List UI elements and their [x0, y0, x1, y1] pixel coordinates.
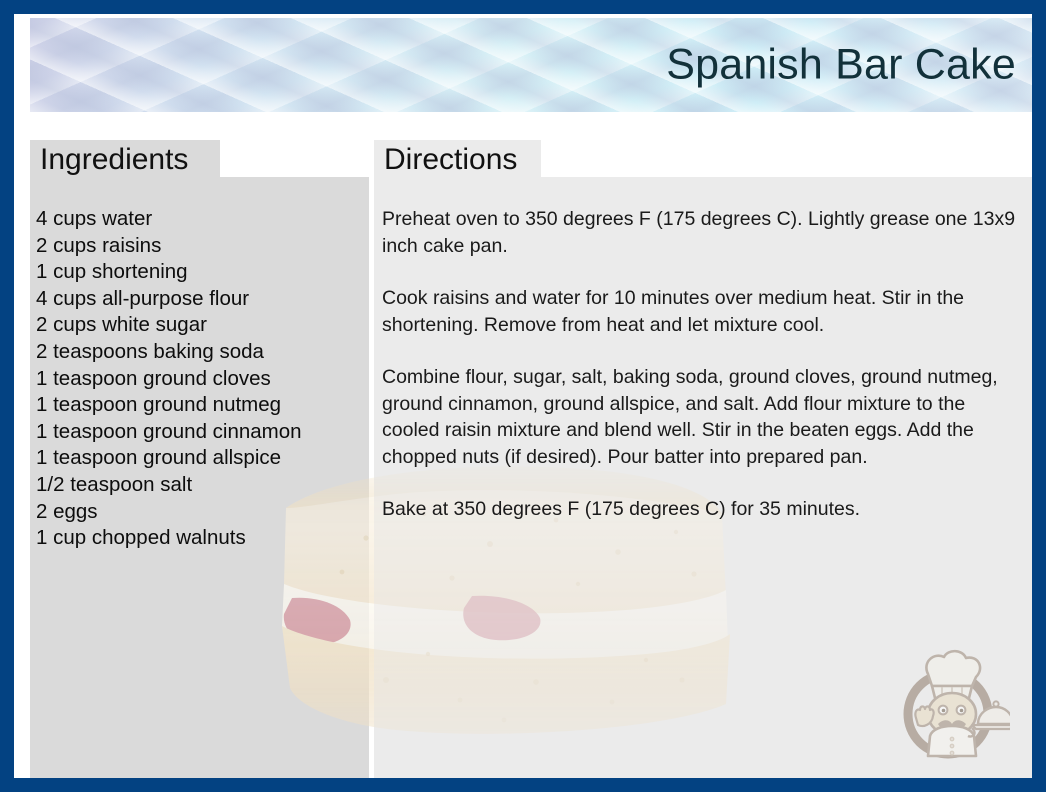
directions-text: Preheat oven to 350 degrees F (175 degre…	[382, 206, 1027, 523]
list-item: 1 teaspoon ground nutmeg	[36, 392, 366, 419]
direction-step: Preheat oven to 350 degrees F (175 degre…	[382, 206, 1027, 259]
list-item: 2 cups white sugar	[36, 312, 366, 339]
section-heading-ingredients: Ingredients	[30, 140, 220, 180]
list-item: 2 eggs	[36, 499, 366, 526]
title-banner: Spanish Bar Cake	[30, 18, 1036, 112]
list-item: 1 cup chopped walnuts	[36, 525, 366, 552]
direction-step: Cook raisins and water for 10 minutes ov…	[382, 285, 1027, 338]
list-item: 1 teaspoon ground allspice	[36, 445, 366, 472]
list-item: 4 cups water	[36, 206, 366, 233]
list-item: 1/2 teaspoon salt	[36, 472, 366, 499]
direction-step: Bake at 350 degrees F (175 degrees C) fo…	[382, 496, 1027, 523]
ingredients-list: 4 cups water 2 cups raisins 1 cup shorte…	[36, 206, 366, 552]
list-item: 2 teaspoons baking soda	[36, 339, 366, 366]
direction-step: Combine flour, sugar, salt, baking soda,…	[382, 364, 1027, 470]
list-item: 1 teaspoon ground cinnamon	[36, 419, 366, 446]
section-heading-directions: Directions	[374, 140, 541, 180]
list-item: 2 cups raisins	[36, 233, 366, 260]
list-item: 4 cups all-purpose flour	[36, 286, 366, 313]
recipe-card: Spanish Bar Cake	[0, 0, 1046, 792]
page-title: Spanish Bar Cake	[666, 44, 1016, 87]
list-item: 1 cup shortening	[36, 259, 366, 286]
list-item: 1 teaspoon ground cloves	[36, 366, 366, 393]
